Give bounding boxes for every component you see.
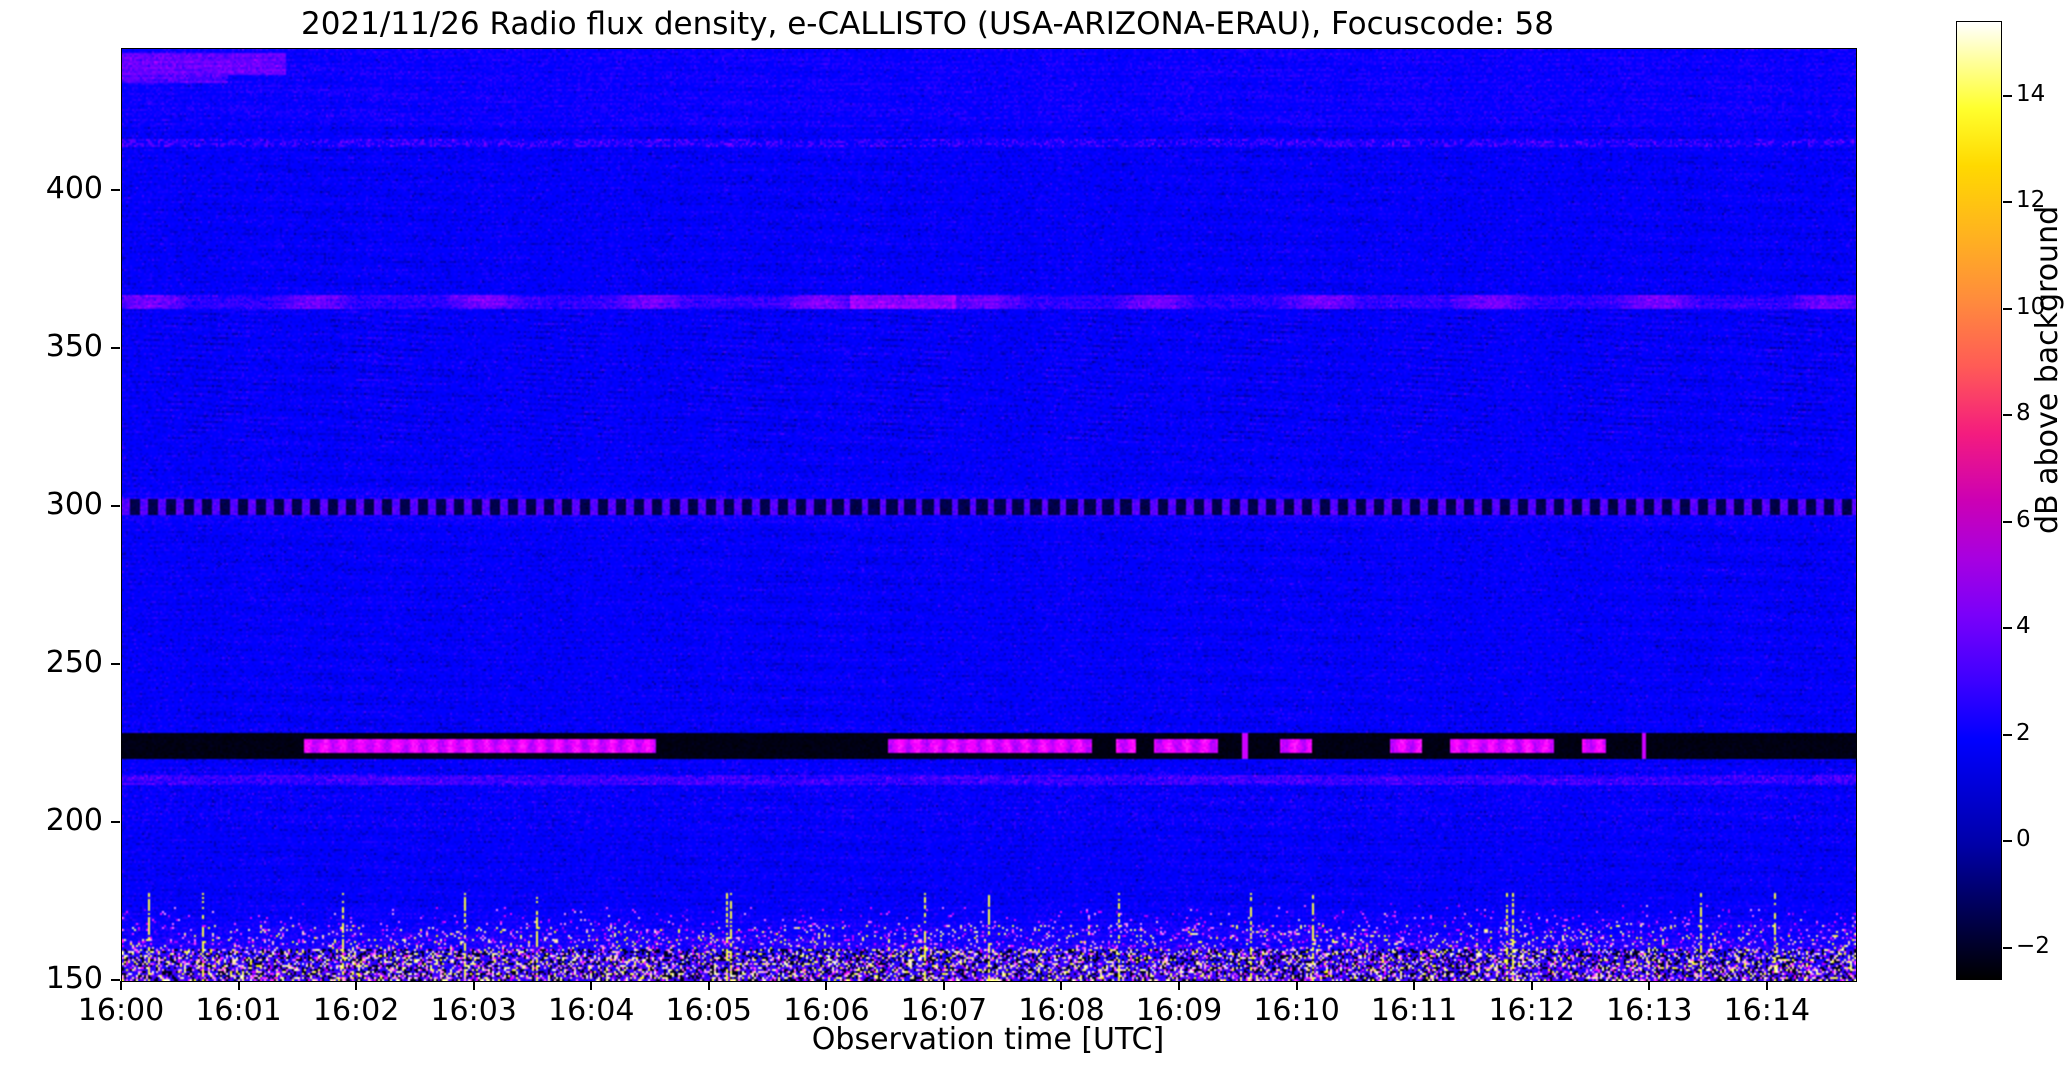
y-tick-label: 350	[31, 329, 103, 364]
colorbar-tick-mark	[2003, 201, 2012, 203]
spectrogram-plot-area[interactable]	[121, 48, 1857, 982]
y-tick-label: 150	[31, 961, 103, 996]
colorbar-gradient	[1956, 21, 2002, 980]
y-tick-label: 300	[31, 487, 103, 522]
x-tick-mark	[1766, 981, 1768, 990]
y-tick-mark	[111, 505, 120, 507]
x-tick-mark	[1531, 981, 1533, 990]
colorbar-tick-mark	[2003, 840, 2012, 842]
colorbar-tick-mark	[2003, 521, 2012, 523]
x-tick-mark	[708, 981, 710, 990]
figure-title: 2021/11/26 Radio flux density, e-CALLIST…	[0, 6, 1855, 42]
colorbar-tick-mark	[2003, 947, 2012, 949]
figure-root: 2021/11/26 Radio flux density, e-CALLIST…	[0, 0, 2066, 1067]
y-axis-label: Frequency [MHz]	[0, 178, 1, 430]
colorbar-tick-mark	[2003, 308, 2012, 310]
y-tick-mark	[111, 189, 120, 191]
colorbar-tick-label: 8	[2016, 400, 2031, 426]
x-tick-mark	[473, 981, 475, 990]
x-tick-label: 16:14	[1697, 993, 1837, 1028]
y-tick-mark	[111, 821, 120, 823]
x-tick-mark	[1413, 981, 1415, 990]
x-tick-mark	[1296, 981, 1298, 990]
colorbar-tick-mark	[2003, 627, 2012, 629]
colorbar-wrapper[interactable]: −202468101214	[1956, 21, 2002, 980]
colorbar-tick-label: 2	[2016, 720, 2031, 746]
colorbar-tick-label: 0	[2016, 826, 2031, 852]
x-tick-mark	[1648, 981, 1650, 990]
x-tick-mark	[825, 981, 827, 990]
x-tick-mark	[355, 981, 357, 990]
spectrogram-image	[122, 49, 1856, 981]
colorbar-tick-mark	[2003, 414, 2012, 416]
y-tick-label: 250	[31, 645, 103, 680]
y-tick-label: 400	[31, 171, 103, 206]
colorbar-tick-label: 4	[2016, 613, 2031, 639]
y-tick-mark	[111, 347, 120, 349]
colorbar-tick-mark	[2003, 95, 2012, 97]
colorbar-tick-label: 6	[2016, 507, 2031, 533]
colorbar-label: dB above background	[2030, 206, 2065, 534]
colorbar-tick-mark	[2003, 734, 2012, 736]
x-tick-mark	[943, 981, 945, 990]
x-tick-mark	[120, 981, 122, 990]
x-tick-mark	[590, 981, 592, 990]
y-tick-label: 200	[31, 803, 103, 838]
x-tick-mark	[238, 981, 240, 990]
colorbar-tick-label: −2	[2016, 933, 2050, 959]
y-tick-mark	[111, 663, 120, 665]
x-tick-mark	[1178, 981, 1180, 990]
y-tick-mark	[111, 979, 120, 981]
x-tick-mark	[1060, 981, 1062, 990]
colorbar-tick-label: 14	[2016, 81, 2045, 107]
